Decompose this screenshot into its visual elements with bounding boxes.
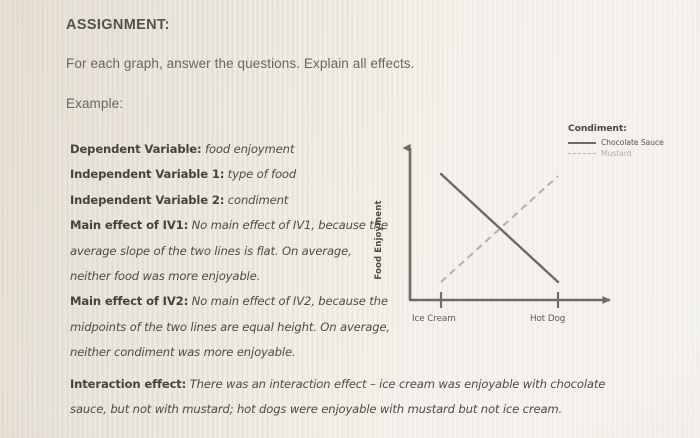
answer-value: No main effect of IV2, because the xyxy=(192,294,388,308)
x-tick-label-ice-cream: Ice Cream xyxy=(412,314,456,324)
answer-line: Interaction effect: There was an interac… xyxy=(70,372,670,397)
worksheet-content: ASSIGNMENT: For each graph, answer the q… xyxy=(0,0,700,438)
answer-value: average slope of the two lines is flat. … xyxy=(70,244,352,258)
assignment-title: ASSIGNMENT: xyxy=(66,17,170,33)
answer-value: There was an interaction effect – ice cr… xyxy=(190,377,606,391)
answer-value: type of food xyxy=(228,167,296,181)
answer-line: midpoints of the two lines are equal hei… xyxy=(70,315,415,340)
answer-line: neither food was more enjoyable. xyxy=(70,264,415,289)
answer-label: Main effect of IV2: xyxy=(70,294,188,308)
example-answer-block: Dependent Variable: food enjoyment Indep… xyxy=(70,137,415,366)
legend-title: Condiment: xyxy=(568,123,627,134)
answer-line: Dependent Variable: food enjoyment xyxy=(70,137,415,162)
legend-label: Chocolate Sauce xyxy=(601,138,664,147)
answer-value: neither condiment was more enjoyable. xyxy=(70,345,295,359)
interaction-effect-block: Interaction effect: There was an interac… xyxy=(70,372,670,423)
answer-line: neither condiment was more enjoyable. xyxy=(70,340,415,365)
answer-label: Dependent Variable: xyxy=(70,142,202,156)
answer-line: Independent Variable 1: type of food xyxy=(70,162,415,187)
assignment-instruction: For each graph, answer the questions. Ex… xyxy=(66,56,415,71)
answer-line: average slope of the two lines is flat. … xyxy=(70,239,415,264)
answer-value: condiment xyxy=(228,193,288,207)
legend-label: Mustard xyxy=(601,149,631,158)
answer-line: sauce, but not with mustard; hot dogs we… xyxy=(70,397,670,422)
answer-value: food enjoyment xyxy=(205,142,294,156)
answer-value: sauce, but not with mustard; hot dogs we… xyxy=(70,402,562,416)
legend-swatch-solid-icon xyxy=(568,142,596,144)
answer-line: Independent Variable 2: condiment xyxy=(70,188,415,213)
legend-item-mustard: Mustard xyxy=(568,149,631,158)
answer-label: Interaction effect: xyxy=(70,377,186,391)
answer-value: midpoints of the two lines are equal hei… xyxy=(70,320,390,334)
interaction-line-chart: Condiment: Chocolate Sauce Mustard Food … xyxy=(388,118,688,338)
answer-value: neither food was more enjoyable. xyxy=(70,269,260,283)
example-label: Example: xyxy=(66,96,123,111)
answer-label: Main effect of IV1: xyxy=(70,218,188,232)
answer-line: Main effect of IV1: No main effect of IV… xyxy=(70,213,415,238)
series-line-chocolate-sauce xyxy=(441,174,558,282)
legend-swatch-dashed-icon xyxy=(568,153,596,154)
answer-label: Independent Variable 1: xyxy=(70,167,224,181)
x-tick-label-hot-dog: Hot Dog xyxy=(530,314,565,324)
answer-label: Independent Variable 2: xyxy=(70,193,224,207)
y-axis-label: Food Enjoyment xyxy=(374,180,384,300)
answer-line: Main effect of IV2: No main effect of IV… xyxy=(70,289,415,314)
legend-item-chocolate-sauce: Chocolate Sauce xyxy=(568,138,664,147)
answer-value: No main effect of IV1, because the xyxy=(192,218,388,232)
chart-plot-area xyxy=(388,118,633,318)
